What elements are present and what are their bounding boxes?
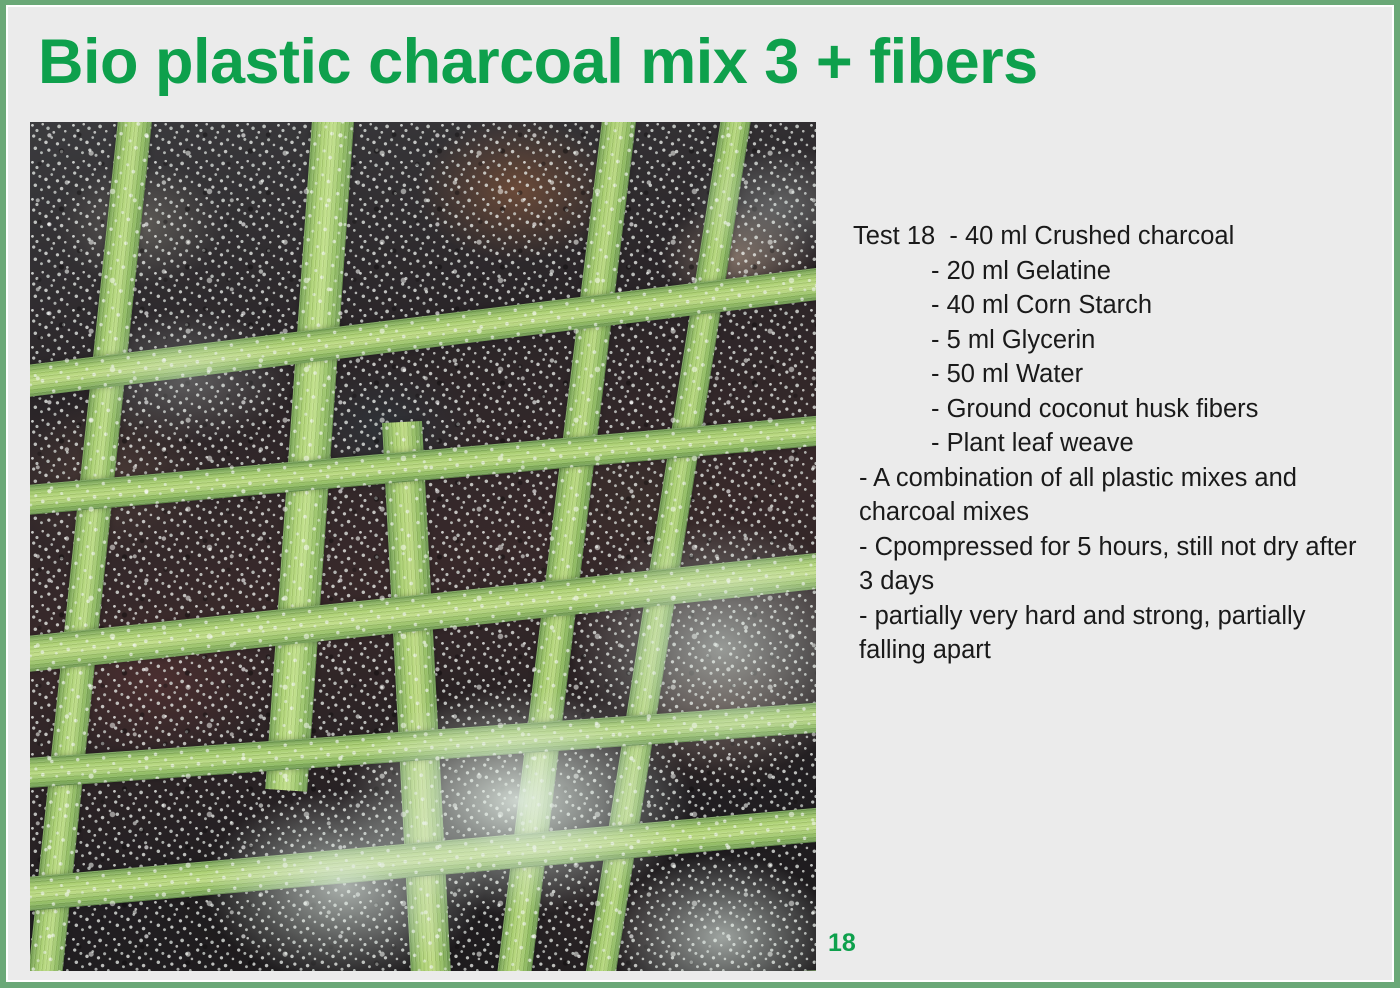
notes-line: - Ground coconut husk fibers [931, 392, 1363, 427]
notes-block: Test 18 - 40 ml Crushed charcoal - 20 ml… [853, 219, 1363, 668]
slide: Bio plastic charcoal mix 3 + fibers [0, 0, 1400, 988]
notes-line: - A combination of all plastic mixes and… [859, 461, 1363, 530]
slide-canvas: Bio plastic charcoal mix 3 + fibers [6, 5, 1394, 982]
notes-line: - 40 ml Corn Starch [931, 288, 1363, 323]
page-title: Bio plastic charcoal mix 3 + fibers [38, 29, 1038, 95]
notes-line: - Plant leaf weave [931, 426, 1363, 461]
photo-starch-bloom [30, 122, 816, 971]
notes-line: - 5 ml Glycerin [931, 323, 1363, 358]
notes-line: - 20 ml Gelatine [931, 254, 1363, 289]
notes-line: - partially very hard and strong, partia… [859, 599, 1363, 668]
page-number: 18 [828, 929, 856, 958]
notes-line: - 50 ml Water [931, 357, 1363, 392]
notes-line: - Cpompressed for 5 hours, still not dry… [859, 530, 1363, 599]
notes-line: Test 18 - 40 ml Crushed charcoal [853, 219, 1363, 254]
bioplastic-photo [30, 122, 816, 971]
